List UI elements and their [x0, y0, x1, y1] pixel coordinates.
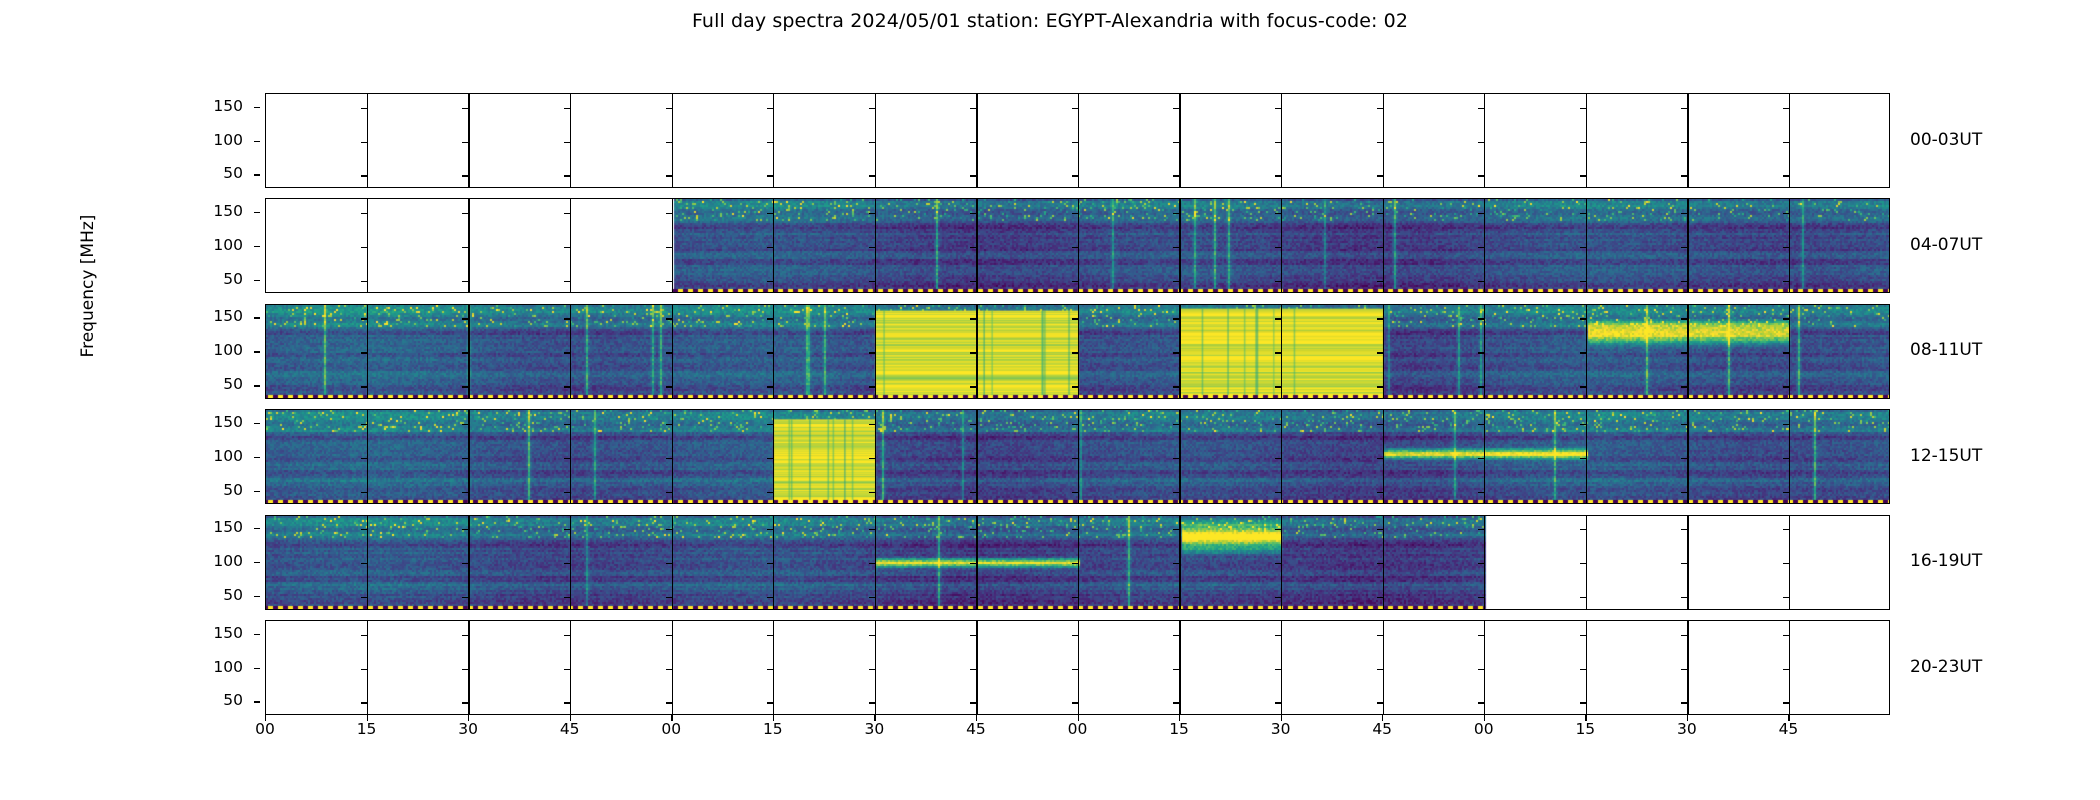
panel-tick-mark — [1681, 108, 1687, 109]
panel-tick-mark — [1681, 352, 1687, 353]
panel-separator — [1281, 516, 1282, 609]
x-tick-label: 45 — [951, 722, 1001, 738]
panel-separator — [570, 516, 571, 609]
panel-separator — [1484, 94, 1485, 187]
panel-tick-mark — [1478, 424, 1484, 425]
panel-tick-mark — [970, 352, 976, 353]
panel-tick-mark — [1173, 492, 1179, 493]
panel-separator — [367, 621, 368, 714]
panel-tick-mark — [666, 247, 672, 248]
panel-separator — [367, 410, 368, 503]
panel-separator — [1281, 94, 1282, 187]
panel-tick-mark — [767, 247, 773, 248]
panel-tick-mark — [462, 318, 468, 319]
panel-tick-mark — [564, 386, 570, 387]
panel-tick-mark — [1072, 597, 1078, 598]
row-label-04-07ut: 04-07UT — [1910, 237, 1982, 254]
y-tick-label: 100 — [183, 238, 243, 254]
x-tick-mark — [1179, 715, 1180, 721]
x-tick-label: 30 — [849, 722, 899, 738]
x-tick-mark — [468, 715, 469, 721]
panel-tick-mark — [869, 247, 875, 248]
panel-tick-mark — [564, 352, 570, 353]
panel-separator — [875, 199, 876, 292]
panel-tick-mark — [1377, 458, 1383, 459]
panel-tick-mark — [869, 635, 875, 636]
panel-tick-mark — [1173, 635, 1179, 636]
panel-separator — [672, 199, 673, 292]
panel-tick-mark — [1275, 142, 1281, 143]
panel-separator — [1687, 94, 1688, 187]
panel-tick-mark — [564, 635, 570, 636]
panel-tick-mark — [1478, 702, 1484, 703]
panel-separator — [1383, 305, 1384, 398]
panel-separator — [672, 410, 673, 503]
x-tick-mark — [1382, 715, 1383, 721]
panel-separator — [1586, 199, 1587, 292]
panel-tick-mark — [1072, 386, 1078, 387]
panel-tick-mark — [1681, 492, 1687, 493]
panel-tick-mark — [1478, 386, 1484, 387]
spectrogram-row-04-07ut[interactable] — [265, 198, 1890, 293]
panel-tick-mark — [1072, 635, 1078, 636]
panel-tick-mark — [1173, 563, 1179, 564]
panel-tick-mark — [767, 108, 773, 109]
panel-separator — [1586, 621, 1587, 714]
panel-tick-mark — [1377, 597, 1383, 598]
panel-separator — [672, 305, 673, 398]
panel-separator — [1586, 305, 1587, 398]
panel-tick-mark — [564, 563, 570, 564]
panel-tick-mark — [1275, 281, 1281, 282]
panel-tick-mark — [1681, 281, 1687, 282]
panel-tick-mark — [767, 142, 773, 143]
panel-tick-mark — [361, 318, 367, 319]
panel-separator — [1484, 410, 1485, 503]
y-tick-mark — [254, 634, 260, 635]
panel-tick-mark — [767, 213, 773, 214]
x-tick-label: 00 — [646, 722, 696, 738]
panel-tick-mark — [462, 635, 468, 636]
row-label-00-03ut: 00-03UT — [1910, 132, 1982, 149]
panel-tick-mark — [1478, 213, 1484, 214]
panel-tick-mark — [1377, 635, 1383, 636]
panel-tick-mark — [1072, 702, 1078, 703]
x-tick-mark — [570, 715, 571, 721]
panel-tick-mark — [1580, 597, 1586, 598]
panel-tick-mark — [1783, 213, 1789, 214]
panel-tick-mark — [1478, 281, 1484, 282]
panel-separator — [773, 199, 774, 292]
panel-separator — [1789, 410, 1790, 503]
panel-separator — [875, 410, 876, 503]
panel-tick-mark — [1173, 386, 1179, 387]
y-tick-mark — [254, 317, 260, 318]
y-tick-mark — [254, 596, 260, 597]
x-tick-mark — [1687, 715, 1688, 721]
panel-tick-mark — [1783, 352, 1789, 353]
panel-separator — [570, 410, 571, 503]
panel-tick-mark — [767, 529, 773, 530]
panel-tick-mark — [1580, 635, 1586, 636]
panel-tick-mark — [462, 458, 468, 459]
panel-tick-mark — [1072, 529, 1078, 530]
x-tick-mark — [773, 715, 774, 721]
spectrogram-row-12-15ut[interactable] — [265, 409, 1890, 504]
panel-tick-mark — [564, 213, 570, 214]
panel-separator — [1078, 94, 1079, 187]
y-tick-mark — [254, 457, 260, 458]
x-tick-label: 00 — [1459, 722, 1509, 738]
panel-separator — [875, 621, 876, 714]
panel-tick-mark — [361, 175, 367, 176]
panel-tick-mark — [1173, 702, 1179, 703]
panel-tick-mark — [462, 529, 468, 530]
spectrogram-row-08-11ut[interactable] — [265, 304, 1890, 399]
panel-tick-mark — [1478, 175, 1484, 176]
panel-tick-mark — [767, 702, 773, 703]
panel-tick-mark — [564, 175, 570, 176]
row-label-20-23ut: 20-23UT — [1910, 659, 1982, 676]
y-tick-label: 50 — [183, 588, 243, 604]
panel-tick-mark — [1377, 108, 1383, 109]
panel-separator — [1179, 199, 1180, 292]
panel-separator — [1078, 516, 1079, 609]
panel-tick-mark — [1377, 213, 1383, 214]
panel-tick-mark — [869, 702, 875, 703]
panel-tick-mark — [1275, 247, 1281, 248]
panel-tick-mark — [462, 175, 468, 176]
panel-tick-mark — [361, 352, 367, 353]
panel-tick-mark — [767, 281, 773, 282]
panel-tick-mark — [361, 529, 367, 530]
panel-tick-mark — [1783, 458, 1789, 459]
panel-tick-mark — [1275, 108, 1281, 109]
panel-tick-mark — [361, 702, 367, 703]
panel-separator — [1179, 516, 1180, 609]
x-tick-mark — [671, 715, 672, 721]
panel-tick-mark — [1173, 213, 1179, 214]
panel-tick-mark — [462, 142, 468, 143]
panel-tick-mark — [1681, 142, 1687, 143]
panel-tick-mark — [462, 386, 468, 387]
panel-separator — [367, 516, 368, 609]
panel-separator — [1383, 94, 1384, 187]
panel-tick-mark — [1275, 386, 1281, 387]
panel-separator — [672, 94, 673, 187]
panel-tick-mark — [666, 318, 672, 319]
y-tick-label: 100 — [183, 133, 243, 149]
panel-tick-mark — [1275, 669, 1281, 670]
panel-tick-mark — [1580, 702, 1586, 703]
panel-separator — [773, 621, 774, 714]
panel-separator — [1687, 621, 1688, 714]
row-label-16-19ut: 16-19UT — [1910, 553, 1982, 570]
x-tick-mark — [976, 715, 977, 721]
spectrogram-row-16-19ut[interactable] — [265, 515, 1890, 610]
panel-tick-mark — [869, 669, 875, 670]
panel-separator — [1383, 621, 1384, 714]
panel-tick-mark — [869, 492, 875, 493]
panel-tick-mark — [767, 563, 773, 564]
panel-separator — [1078, 621, 1079, 714]
x-tick-label: 30 — [443, 722, 493, 738]
panel-separator — [976, 199, 977, 292]
panel-separator — [468, 94, 469, 187]
panel-tick-mark — [361, 213, 367, 214]
y-tick-mark — [254, 701, 260, 702]
panel-tick-mark — [1377, 142, 1383, 143]
panel-tick-mark — [1173, 597, 1179, 598]
panel-tick-mark — [767, 386, 773, 387]
x-tick-mark — [1788, 715, 1789, 721]
y-tick-label: 150 — [183, 520, 243, 536]
panel-tick-mark — [361, 108, 367, 109]
panel-tick-mark — [1783, 424, 1789, 425]
spectrogram-figure: Full day spectra 2024/05/01 station: EGY… — [0, 0, 2100, 800]
panel-tick-mark — [869, 318, 875, 319]
panel-tick-mark — [1377, 529, 1383, 530]
panel-tick-mark — [869, 213, 875, 214]
panel-tick-mark — [564, 702, 570, 703]
panel-tick-mark — [1681, 175, 1687, 176]
panel-separator — [976, 410, 977, 503]
panel-tick-mark — [1072, 142, 1078, 143]
panel-tick-mark — [869, 281, 875, 282]
panel-tick-mark — [1478, 108, 1484, 109]
panel-separator — [976, 305, 977, 398]
y-tick-label: 100 — [183, 660, 243, 676]
spectrogram-row-20-23ut[interactable] — [265, 620, 1890, 715]
panel-tick-mark — [1173, 281, 1179, 282]
row-labels: 00-03UT04-07UT08-11UT12-15UT16-19UT20-23… — [1910, 93, 2095, 715]
panel-separator — [1789, 199, 1790, 292]
panel-tick-mark — [767, 635, 773, 636]
panel-tick-mark — [1783, 108, 1789, 109]
y-axis-title: Frequency [MHz] — [78, 136, 98, 436]
panel-tick-mark — [1783, 247, 1789, 248]
panel-tick-mark — [869, 175, 875, 176]
panel-tick-mark — [1478, 142, 1484, 143]
panel-separator — [468, 410, 469, 503]
panel-tick-mark — [970, 386, 976, 387]
panel-tick-mark — [462, 597, 468, 598]
x-tick-label: 45 — [1357, 722, 1407, 738]
x-tick-label: 15 — [1560, 722, 1610, 738]
panel-tick-mark — [666, 492, 672, 493]
spectrogram-row-00-03ut[interactable] — [265, 93, 1890, 188]
panel-tick-mark — [1377, 281, 1383, 282]
panel-tick-mark — [767, 597, 773, 598]
panel-tick-mark — [970, 492, 976, 493]
panel-separator — [1281, 410, 1282, 503]
x-tick-label: 45 — [1763, 722, 1813, 738]
panel-separator — [570, 199, 571, 292]
panel-separator — [875, 516, 876, 609]
panel-tick-mark — [1783, 142, 1789, 143]
x-tick-label: 00 — [1053, 722, 1103, 738]
panel-tick-mark — [1072, 247, 1078, 248]
y-tick-label: 100 — [183, 343, 243, 359]
panel-separator — [468, 516, 469, 609]
figure-title: Full day spectra 2024/05/01 station: EGY… — [0, 10, 2100, 32]
panel-tick-mark — [1377, 318, 1383, 319]
x-tick-mark — [367, 715, 368, 721]
panel-tick-mark — [1173, 669, 1179, 670]
panel-separator — [1687, 305, 1688, 398]
panel-tick-mark — [462, 213, 468, 214]
panel-separator — [1586, 410, 1587, 503]
panel-tick-mark — [1275, 702, 1281, 703]
panel-separator — [1078, 199, 1079, 292]
panel-separator — [773, 305, 774, 398]
panel-tick-mark — [1377, 247, 1383, 248]
panel-tick-mark — [1681, 563, 1687, 564]
y-tick-label: 50 — [183, 166, 243, 182]
panel-tick-mark — [1377, 492, 1383, 493]
panel-tick-mark — [970, 281, 976, 282]
panel-tick-mark — [1478, 318, 1484, 319]
panel-tick-mark — [970, 108, 976, 109]
panel-tick-mark — [1681, 386, 1687, 387]
panel-tick-mark — [869, 142, 875, 143]
panel-separator — [1383, 410, 1384, 503]
panel-tick-mark — [970, 563, 976, 564]
panel-tick-mark — [1275, 597, 1281, 598]
panel-tick-mark — [1783, 563, 1789, 564]
y-tick-mark — [254, 528, 260, 529]
panel-separator — [1078, 305, 1079, 398]
y-tick-mark — [254, 351, 260, 352]
panel-tick-mark — [1681, 529, 1687, 530]
panel-tick-mark — [1275, 175, 1281, 176]
panel-tick-mark — [666, 669, 672, 670]
panel-tick-mark — [361, 458, 367, 459]
x-tick-label: 15 — [1154, 722, 1204, 738]
panel-separator — [570, 94, 571, 187]
panel-tick-mark — [1173, 352, 1179, 353]
panel-tick-mark — [1580, 352, 1586, 353]
panel-separator — [1586, 94, 1587, 187]
panel-separator — [773, 410, 774, 503]
panel-separator — [976, 621, 977, 714]
y-tick-mark — [254, 212, 260, 213]
axes-grid — [265, 93, 1890, 715]
panel-tick-mark — [1173, 108, 1179, 109]
panel-tick-mark — [1377, 175, 1383, 176]
panel-separator — [570, 621, 571, 714]
panel-separator — [1281, 305, 1282, 398]
panel-separator — [1179, 305, 1180, 398]
panel-tick-mark — [970, 529, 976, 530]
panel-tick-mark — [869, 529, 875, 530]
panel-separator — [1281, 621, 1282, 714]
panel-separator — [1383, 516, 1384, 609]
panel-tick-mark — [970, 424, 976, 425]
panel-tick-mark — [1072, 492, 1078, 493]
panel-tick-mark — [869, 597, 875, 598]
panel-tick-mark — [1173, 529, 1179, 530]
panel-separator — [976, 94, 977, 187]
panel-tick-mark — [1783, 318, 1789, 319]
panel-tick-mark — [1580, 529, 1586, 530]
panel-tick-mark — [1681, 635, 1687, 636]
panel-tick-mark — [1681, 669, 1687, 670]
row-label-12-15ut: 12-15UT — [1910, 448, 1982, 465]
y-tick-label: 150 — [183, 309, 243, 325]
panel-tick-mark — [1681, 424, 1687, 425]
panel-tick-mark — [666, 175, 672, 176]
panel-separator — [1484, 516, 1485, 609]
panel-tick-mark — [666, 597, 672, 598]
panel-tick-mark — [970, 635, 976, 636]
panel-tick-mark — [1580, 563, 1586, 564]
panel-tick-mark — [361, 142, 367, 143]
panel-tick-mark — [361, 386, 367, 387]
y-tick-labels: 5050505050501001001001001001001501501501… — [185, 93, 257, 715]
panel-separator — [1179, 410, 1180, 503]
panel-tick-mark — [1681, 702, 1687, 703]
x-tick-label: 15 — [748, 722, 798, 738]
panel-tick-mark — [869, 352, 875, 353]
panel-tick-mark — [1580, 669, 1586, 670]
panel-tick-mark — [1580, 213, 1586, 214]
panel-tick-mark — [1275, 492, 1281, 493]
panel-tick-mark — [564, 318, 570, 319]
panel-tick-mark — [564, 142, 570, 143]
panel-tick-mark — [1478, 529, 1484, 530]
panel-tick-mark — [1478, 635, 1484, 636]
panel-tick-mark — [564, 597, 570, 598]
panel-tick-mark — [869, 386, 875, 387]
panel-separator — [468, 305, 469, 398]
panel-tick-mark — [666, 281, 672, 282]
panel-tick-mark — [462, 702, 468, 703]
panel-tick-mark — [1783, 635, 1789, 636]
panel-tick-mark — [1275, 529, 1281, 530]
panel-separator — [1687, 199, 1688, 292]
panel-tick-mark — [1580, 281, 1586, 282]
panel-separator — [1484, 305, 1485, 398]
panel-tick-mark — [666, 458, 672, 459]
panel-tick-mark — [1377, 424, 1383, 425]
panel-tick-mark — [462, 669, 468, 670]
panel-tick-mark — [1173, 458, 1179, 459]
panel-tick-mark — [970, 318, 976, 319]
panel-tick-mark — [361, 597, 367, 598]
panel-tick-mark — [361, 424, 367, 425]
panel-tick-mark — [1072, 281, 1078, 282]
panel-tick-mark — [970, 247, 976, 248]
panel-tick-mark — [1681, 213, 1687, 214]
panel-tick-mark — [1478, 669, 1484, 670]
panel-tick-mark — [462, 108, 468, 109]
panel-tick-mark — [564, 281, 570, 282]
panel-tick-mark — [361, 563, 367, 564]
panel-tick-mark — [1478, 563, 1484, 564]
row-label-08-11ut: 08-11UT — [1910, 342, 1982, 359]
x-tick-label: 30 — [1662, 722, 1712, 738]
panel-tick-mark — [564, 247, 570, 248]
panel-tick-mark — [1377, 669, 1383, 670]
x-tick-label: 15 — [342, 722, 392, 738]
y-tick-label: 50 — [183, 693, 243, 709]
panel-tick-mark — [361, 635, 367, 636]
panel-tick-mark — [564, 108, 570, 109]
panel-tick-mark — [462, 492, 468, 493]
panel-tick-mark — [970, 213, 976, 214]
panel-tick-mark — [1072, 458, 1078, 459]
